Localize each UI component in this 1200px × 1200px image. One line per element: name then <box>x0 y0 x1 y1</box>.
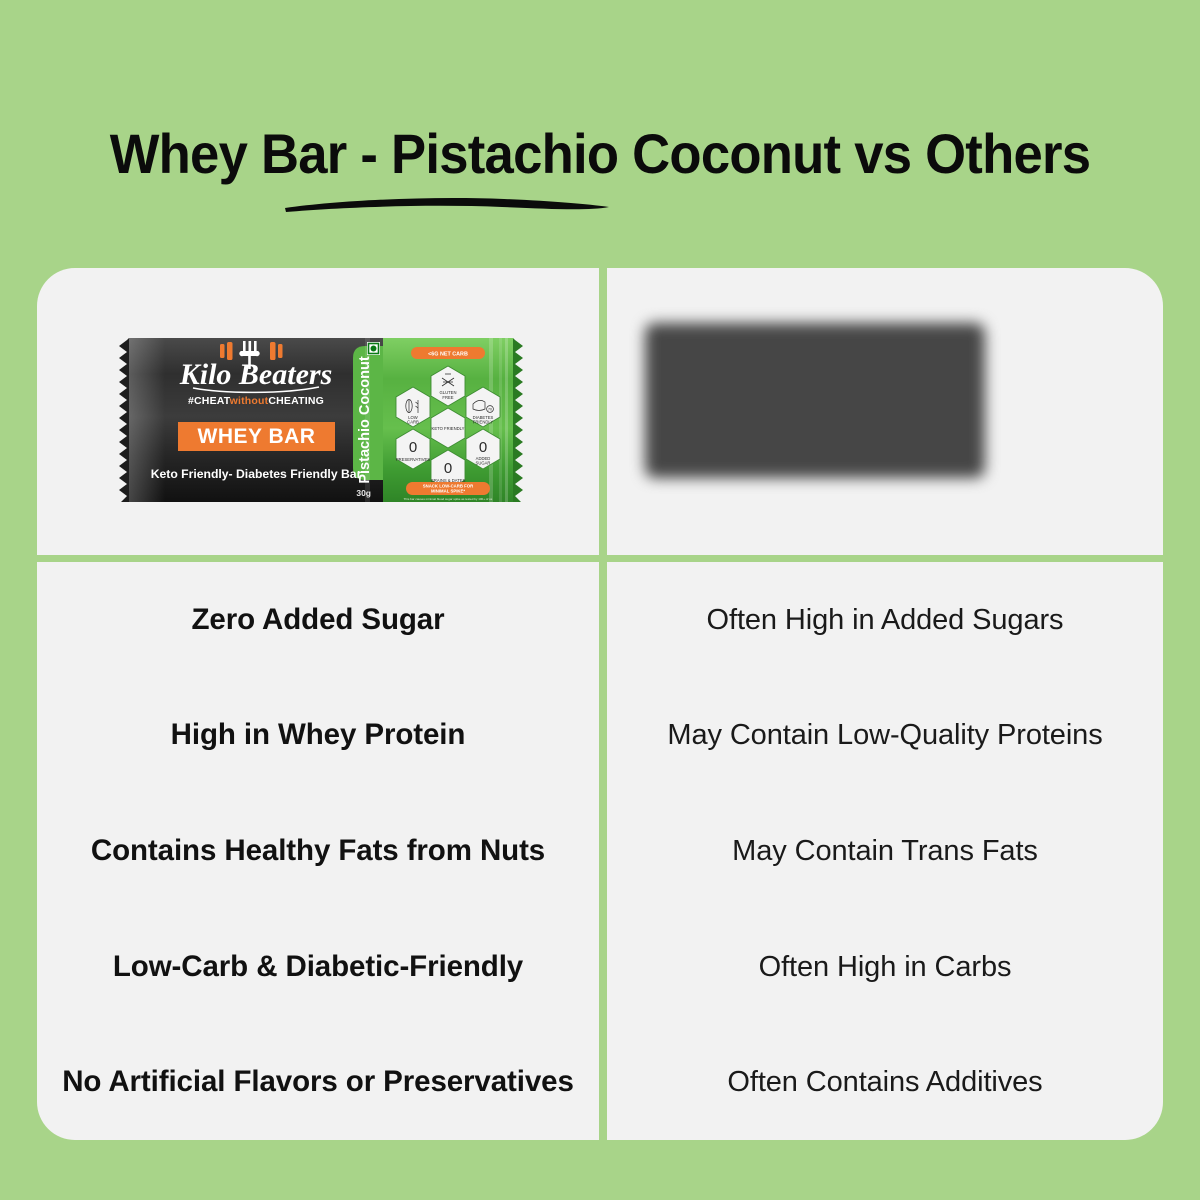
svg-text:MINIMAL SPIKE*: MINIMAL SPIKE* <box>431 489 465 494</box>
feature-item: Contains Healthy Fats from Nuts <box>37 793 599 909</box>
whey-bar-badge: WHEY BAR <box>178 422 335 451</box>
title-underline-icon <box>282 192 612 218</box>
svg-text:FRIENDLY: FRIENDLY <box>473 420 494 425</box>
feature-item: Zero Added Sugar <box>37 562 599 678</box>
feature-item: Low-Carb & Diabetic-Friendly <box>37 909 599 1025</box>
svg-text:PRESERVATIVES: PRESERVATIVES <box>396 457 430 462</box>
feature-item: May Contain Trans Fats <box>607 793 1163 909</box>
competitor-bar-shape <box>645 323 985 478</box>
green-veg-dot-icon <box>367 342 380 355</box>
svg-text:FREE: FREE <box>442 395 453 400</box>
page-title: Whey Bar - Pistachio Coconut vs Others <box>36 124 1164 184</box>
column-divider <box>599 268 607 1140</box>
svg-text:0: 0 <box>479 439 487 456</box>
feature-list-ours: Zero Added Sugar High in Whey Protein Co… <box>37 562 599 1140</box>
svg-text:SUGAR: SUGAR <box>476 461 491 466</box>
svg-text:0: 0 <box>409 439 417 456</box>
feature-item: Often Contains Additives <box>607 1024 1163 1140</box>
svg-text:70: 70 <box>488 408 492 412</box>
product-image-zone-right <box>607 268 1163 555</box>
svg-text:CARB: CARB <box>407 420 419 425</box>
feature-item: No Artificial Flavors or Preservatives <box>37 1024 599 1140</box>
svg-text:<6G NET CARB: <6G NET CARB <box>428 352 468 358</box>
svg-text:KETO FRIENDLY: KETO FRIENDLY <box>432 426 465 431</box>
column-our-product: Kilo Beaters #CHEATwithoutCHEATING WHEY … <box>37 268 599 1140</box>
minimal-spike-badge: SNACK LOW-CARB FOR MINIMAL SPIKE* <box>406 482 490 495</box>
feature-item: Often High in Added Sugars <box>607 562 1163 678</box>
whey-bar-package-image: Kilo Beaters #CHEATwithoutCHEATING WHEY … <box>115 330 527 510</box>
package-descriptor: Keto Friendly- Diabetes Friendly Bar <box>151 467 362 481</box>
brand-wordmark: Kilo Beaters <box>179 358 333 391</box>
svg-text:WHEY BAR: WHEY BAR <box>198 425 316 448</box>
package-flavor: Pistachio Coconut <box>357 356 373 483</box>
feature-list-others: Often High in Added Sugars May Contain L… <box>607 562 1163 1140</box>
package-right-serrated-edge <box>513 338 523 502</box>
package-weight: 30g <box>356 488 371 498</box>
package-fine-print: This bar causes minimal blood sugar spik… <box>404 497 493 501</box>
net-carb-badge: <6G NET CARB <box>411 347 485 359</box>
brand-tagline: #CHEATwithoutCHEATING <box>188 395 324 407</box>
comparison-card: Kilo Beaters #CHEATwithoutCHEATING WHEY … <box>37 268 1163 1140</box>
product-image-zone-left: Kilo Beaters #CHEATwithoutCHEATING WHEY … <box>37 268 599 555</box>
feature-item: Often High in Carbs <box>607 909 1163 1025</box>
feature-item: High in Whey Protein <box>37 678 599 794</box>
column-other-products: Often High in Added Sugars May Contain L… <box>607 268 1163 1140</box>
blurred-competitor-bar-image <box>645 323 985 478</box>
svg-text:0: 0 <box>444 460 452 477</box>
header: Whey Bar - Pistachio Coconut vs Others <box>0 0 1200 268</box>
feature-item: May Contain Low-Quality Proteins <box>607 678 1163 794</box>
package-left-serrated-edge <box>119 338 129 502</box>
